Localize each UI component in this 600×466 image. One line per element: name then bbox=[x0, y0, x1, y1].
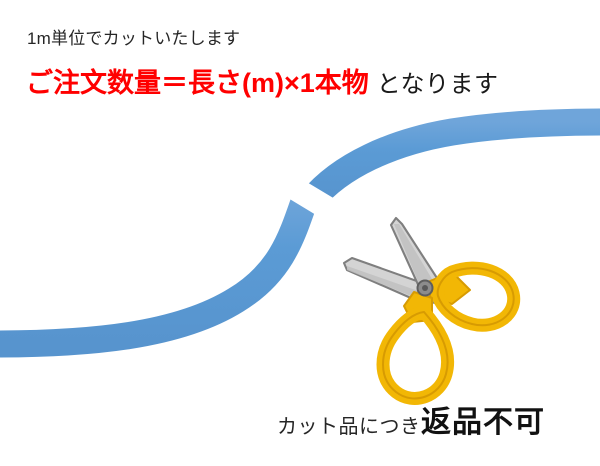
notice-graphic: 1m単位でカットいたします ご注文数量＝長さ(m)×1本物となります カット品に… bbox=[0, 0, 600, 466]
formula-red-text: ご注文数量＝長さ(m)×1本物 bbox=[26, 68, 369, 98]
cable-upper-segment bbox=[312, 122, 600, 200]
main-formula: ご注文数量＝長さ(m)×1本物となります bbox=[26, 70, 499, 97]
footer-warning-text: 返品不可 bbox=[421, 408, 545, 438]
formula-tail-text: となります bbox=[369, 71, 499, 98]
footer-prefix-text: カット品につき bbox=[277, 417, 421, 437]
cable-lower-segment bbox=[0, 196, 306, 344]
headline-note: 1m単位でカットいたします bbox=[27, 30, 240, 47]
